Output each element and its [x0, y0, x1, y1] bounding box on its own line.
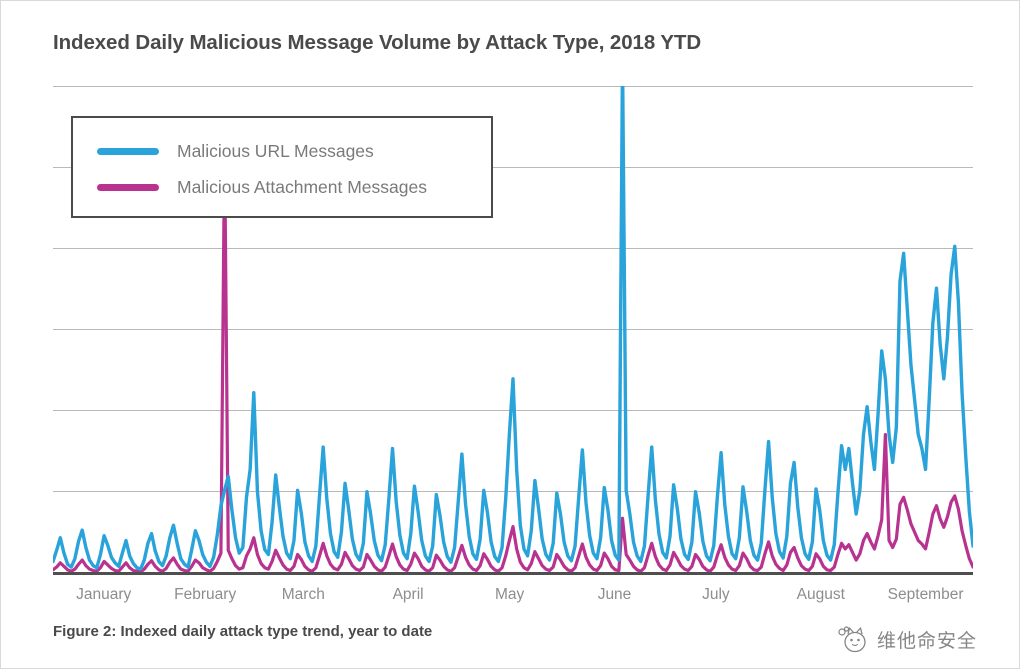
x-tick-label-june: June [598, 586, 632, 604]
x-tick-label-september: September [888, 586, 964, 604]
legend-item-malicious-attachment[interactable]: Malicious Attachment Messages [97, 174, 427, 200]
chart-legend: Malicious URL Messages Malicious Attachm… [71, 116, 493, 218]
x-tick-label-february: February [174, 586, 236, 604]
x-axis-labels: JanuaryFebruaryMarchAprilMayJuneJulyAugu… [53, 586, 973, 608]
watermark: 维他命安全 [836, 624, 977, 654]
legend-swatch-blue [97, 148, 159, 155]
x-tick-label-march: March [282, 586, 325, 604]
figure-page: Indexed Daily Malicious Message Volume b… [0, 0, 1020, 669]
legend-label-malicious-url: Malicious URL Messages [177, 141, 374, 162]
x-axis-baseline [53, 572, 973, 575]
watermark-text: 维他命安全 [877, 626, 977, 653]
legend-item-malicious-url[interactable]: Malicious URL Messages [97, 138, 374, 164]
cat-face-icon [836, 624, 870, 654]
legend-swatch-magenta [97, 184, 159, 191]
legend-label-malicious-attachment: Malicious Attachment Messages [177, 177, 427, 198]
x-tick-label-january: January [76, 586, 131, 604]
x-tick-label-may: May [495, 586, 524, 604]
figure-caption: Figure 2: Indexed daily attack type tren… [53, 623, 432, 640]
x-tick-label-april: April [393, 586, 424, 604]
page-title: Indexed Daily Malicious Message Volume b… [53, 31, 953, 55]
x-tick-label-july: July [702, 586, 730, 604]
x-tick-label-august: August [797, 586, 845, 604]
